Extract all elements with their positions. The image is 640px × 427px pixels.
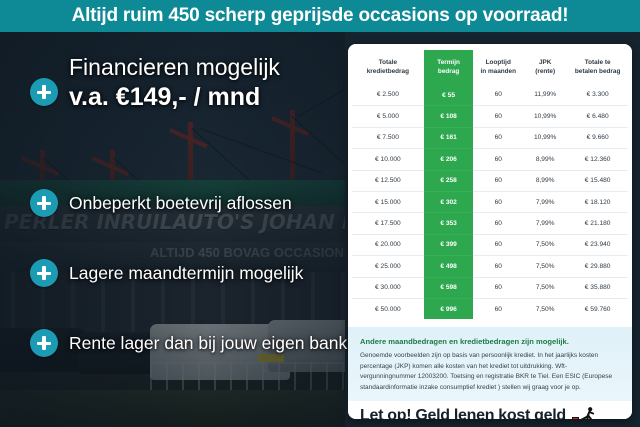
cell-totaal: € 9.660	[567, 127, 628, 148]
table-row: € 30.000€ 598607,50%€ 35.880	[352, 277, 628, 298]
cell-termijn: € 302	[424, 191, 474, 212]
cell-looptijd: 60	[473, 277, 523, 298]
cell-krediet: € 17.500	[352, 213, 424, 234]
col-header-krediet: Totale kredietbedrag	[352, 50, 424, 85]
plus-icon	[30, 259, 58, 287]
table-row: € 5.000€ 1086010,99%€ 6.480	[352, 106, 628, 127]
cell-termijn: € 353	[424, 213, 474, 234]
cell-krediet: € 15.000	[352, 191, 424, 212]
top-banner: Altijd ruim 450 scherp geprijsde occasio…	[0, 0, 640, 32]
cell-krediet: € 50.000	[352, 298, 424, 319]
benefit-item-1: Onbeperkt boetevrij aflossen	[30, 189, 292, 217]
table-row: € 15.000€ 302607,99%€ 18.120	[352, 191, 628, 212]
cell-jkp: 7,99%	[523, 191, 567, 212]
cell-looptijd: 60	[473, 85, 523, 106]
top-banner-text: Altijd ruim 450 scherp geprijsde occasio…	[72, 5, 569, 27]
cell-jkp: 8,99%	[523, 170, 567, 191]
cell-jkp: 7,50%	[523, 277, 567, 298]
benefit-item-3: Rente lager dan bij jouw eigen bank	[30, 329, 347, 357]
cell-jkp: 10,99%	[523, 127, 567, 148]
plus-icon	[30, 78, 58, 106]
table-row: € 12.500€ 258608,99%€ 15.480	[352, 170, 628, 191]
table-row: € 2.500€ 556011,99%€ 3.300	[352, 85, 628, 106]
cell-termijn: € 399	[424, 234, 474, 255]
cell-termijn: € 55	[424, 85, 474, 106]
cell-totaal: € 15.480	[567, 170, 628, 191]
col-header-jkp-l2: (rente)	[523, 67, 567, 76]
cell-termijn: € 161	[424, 127, 474, 148]
cell-jkp: 11,99%	[523, 85, 567, 106]
table-header-row: Totale kredietbedrag Termijn bedrag Loop…	[352, 50, 628, 85]
table-row: € 17.500€ 353607,99%€ 21.180	[352, 213, 628, 234]
cell-jkp: 7,99%	[523, 213, 567, 234]
col-header-jkp: JPK (rente)	[523, 50, 567, 85]
cell-totaal: € 6.480	[567, 106, 628, 127]
credit-info-card: Totale kredietbedrag Termijn bedrag Loop…	[348, 44, 632, 419]
credit-table: Totale kredietbedrag Termijn bedrag Loop…	[352, 50, 628, 319]
cell-looptijd: 60	[473, 106, 523, 127]
cell-krediet: € 5.000	[352, 106, 424, 127]
cell-jkp: 7,50%	[523, 298, 567, 319]
benefit-item-2: Lagere maandtermijn mogelijk	[30, 259, 303, 287]
col-header-looptijd-l1: Looptijd	[473, 58, 523, 67]
benefit-headline: Financieren mogelijk v.a. €149,- / mnd	[30, 54, 280, 112]
cell-jkp: 7,50%	[523, 256, 567, 277]
benefit-item-2-label: Lagere maandtermijn mogelijk	[69, 263, 303, 284]
col-header-looptijd: Looptijd in maanden	[473, 50, 523, 85]
cell-termijn: € 258	[424, 170, 474, 191]
warning-bar: Let op! Geld lenen kost geld	[348, 401, 632, 419]
table-row: € 50.000€ 996607,50%€ 59.760	[352, 298, 628, 319]
col-header-krediet-l1: Totale	[352, 58, 424, 67]
cell-totaal: € 21.180	[567, 213, 628, 234]
cell-termijn: € 996	[424, 298, 474, 319]
benefits-list: Financieren mogelijk v.a. €149,- / mnd O…	[0, 32, 345, 427]
col-header-totaal-l1: Totale te	[567, 58, 628, 67]
headline-line-1: Financieren mogelijk	[69, 54, 280, 81]
cell-totaal: € 29.880	[567, 256, 628, 277]
col-header-termijn-l2: bedrag	[424, 67, 474, 76]
col-header-jkp-l1: JPK	[523, 58, 567, 67]
credit-table-wrap: Totale kredietbedrag Termijn bedrag Loop…	[348, 44, 632, 327]
col-header-termijn-l1: Termijn	[424, 58, 474, 67]
cell-krediet: € 10.000	[352, 149, 424, 170]
cell-jkp: 8,99%	[523, 149, 567, 170]
table-row: € 10.000€ 206608,99%€ 12.360	[352, 149, 628, 170]
benefit-item-1-label: Onbeperkt boetevrij aflossen	[69, 193, 292, 214]
cell-looptijd: 60	[473, 191, 523, 212]
cell-krediet: € 12.500	[352, 170, 424, 191]
cell-totaal: € 12.360	[567, 149, 628, 170]
cell-totaal: € 59.760	[567, 298, 628, 319]
cell-totaal: € 35.880	[567, 277, 628, 298]
headline-line-2: v.a. €149,- / mnd	[69, 83, 280, 112]
col-header-krediet-l2: kredietbedrag	[352, 67, 424, 76]
cell-termijn: € 108	[424, 106, 474, 127]
credit-table-body: € 2.500€ 556011,99%€ 3.300€ 5.000€ 10860…	[352, 85, 628, 320]
disclaimer-body: Genoemde voorbeelden zijn op basis van p…	[360, 351, 620, 393]
cell-looptijd: 60	[473, 170, 523, 191]
promo-banner-image: PERLER INRUILAUTO'S JOHAN MEURE ALTIJD 4…	[0, 0, 640, 427]
cell-jkp: 7,50%	[523, 234, 567, 255]
col-header-looptijd-l2: in maanden	[473, 67, 523, 76]
plus-icon	[30, 189, 58, 217]
cell-termijn: € 498	[424, 256, 474, 277]
cell-totaal: € 23.940	[567, 234, 628, 255]
col-header-termijn: Termijn bedrag	[424, 50, 474, 85]
cell-krediet: € 25.000	[352, 256, 424, 277]
disclaimer-heading: Andere maandbedragen en kredietbedragen …	[360, 337, 620, 346]
cell-krediet: € 2.500	[352, 85, 424, 106]
cell-looptijd: 60	[473, 234, 523, 255]
cell-looptijd: 60	[473, 127, 523, 148]
man-pulling-block-icon	[572, 406, 596, 419]
cell-krediet: € 7.500	[352, 127, 424, 148]
cell-looptijd: 60	[473, 256, 523, 277]
cell-totaal: € 3.300	[567, 85, 628, 106]
credit-table-head: Totale kredietbedrag Termijn bedrag Loop…	[352, 50, 628, 85]
cell-krediet: € 20.000	[352, 234, 424, 255]
cell-krediet: € 30.000	[352, 277, 424, 298]
cell-totaal: € 18.120	[567, 191, 628, 212]
cell-looptijd: 60	[473, 149, 523, 170]
col-header-totaal: Totale te betalen bedrag	[567, 50, 628, 85]
table-row: € 25.000€ 498607,50%€ 29.880	[352, 256, 628, 277]
col-header-totaal-l2: betalen bedrag	[567, 67, 628, 76]
table-row: € 7.500€ 1616010,99%€ 9.660	[352, 127, 628, 148]
cell-looptijd: 60	[473, 298, 523, 319]
disclaimer-section: Andere maandbedragen en kredietbedragen …	[348, 327, 632, 401]
warning-text: Let op! Geld lenen kost geld	[360, 407, 566, 419]
cell-looptijd: 60	[473, 213, 523, 234]
plus-icon	[30, 329, 58, 357]
cell-termijn: € 206	[424, 149, 474, 170]
table-row: € 20.000€ 399607,50%€ 23.940	[352, 234, 628, 255]
benefit-item-3-label: Rente lager dan bij jouw eigen bank	[69, 333, 347, 354]
cell-termijn: € 598	[424, 277, 474, 298]
cell-jkp: 10,99%	[523, 106, 567, 127]
